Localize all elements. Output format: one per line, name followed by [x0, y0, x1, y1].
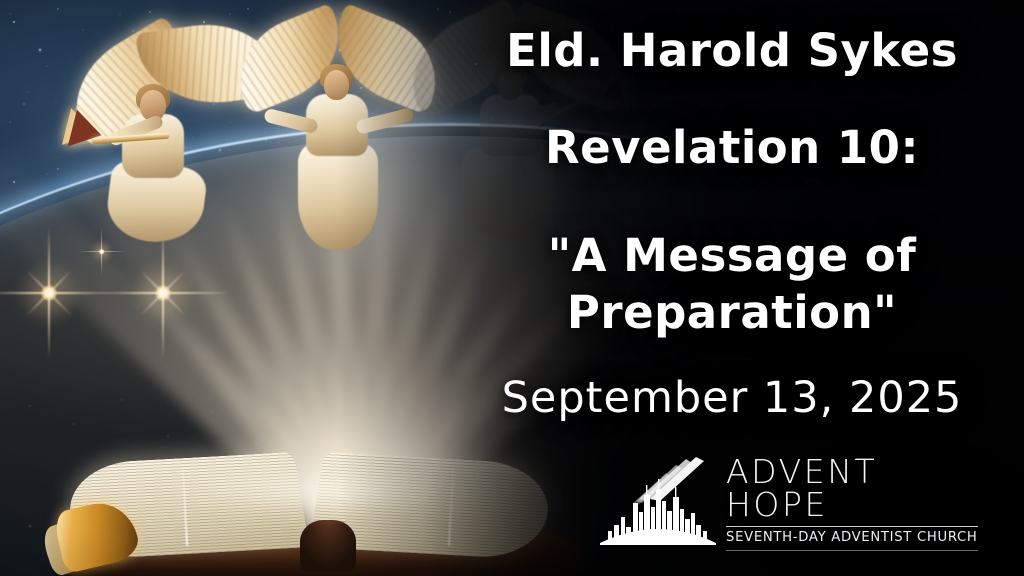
sermon-title-line-2: Preparation" [440, 290, 1024, 337]
logo-name-text: ADVENT HOPE [726, 455, 978, 521]
logo-wordmark: ADVENT HOPE SEVENTH-DAY ADVENTIST CHURCH [726, 449, 978, 551]
sermon-title-slide: Eld. Harold Sykes Revelation 10: "A Mess… [0, 0, 1024, 576]
bible-spine [300, 520, 356, 572]
logo-divider-top [726, 526, 978, 527]
church-logo: ADVENT HOPE SEVENTH-DAY ADVENTIST CHURCH [600, 452, 972, 548]
title-text-block: Eld. Harold Sykes Revelation 10: "A Mess… [440, 0, 1024, 440]
sermon-date: September 13, 2025 [440, 376, 1024, 421]
logo-subtitle-text: SEVENTH-DAY ADVENTIST CHURCH [726, 531, 978, 546]
star-flare-icon [48, 292, 49, 293]
angel-center-arms-open [236, 8, 436, 268]
city-skyline-comet-icon [600, 455, 716, 545]
sermon-title-line-1: "A Message of [440, 233, 1024, 280]
sermon-title: "A Message of Preparation" [440, 233, 1024, 337]
speaker-name: Eld. Harold Sykes [440, 28, 1024, 75]
scripture-reference: Revelation 10: [440, 125, 1024, 172]
logo-divider-bottom [726, 550, 978, 551]
angel-with-trumpet-left [56, 18, 266, 238]
robe-shape [298, 144, 378, 250]
open-bible [64, 430, 584, 576]
head-shape [324, 70, 349, 100]
star-flare-icon [162, 292, 163, 293]
